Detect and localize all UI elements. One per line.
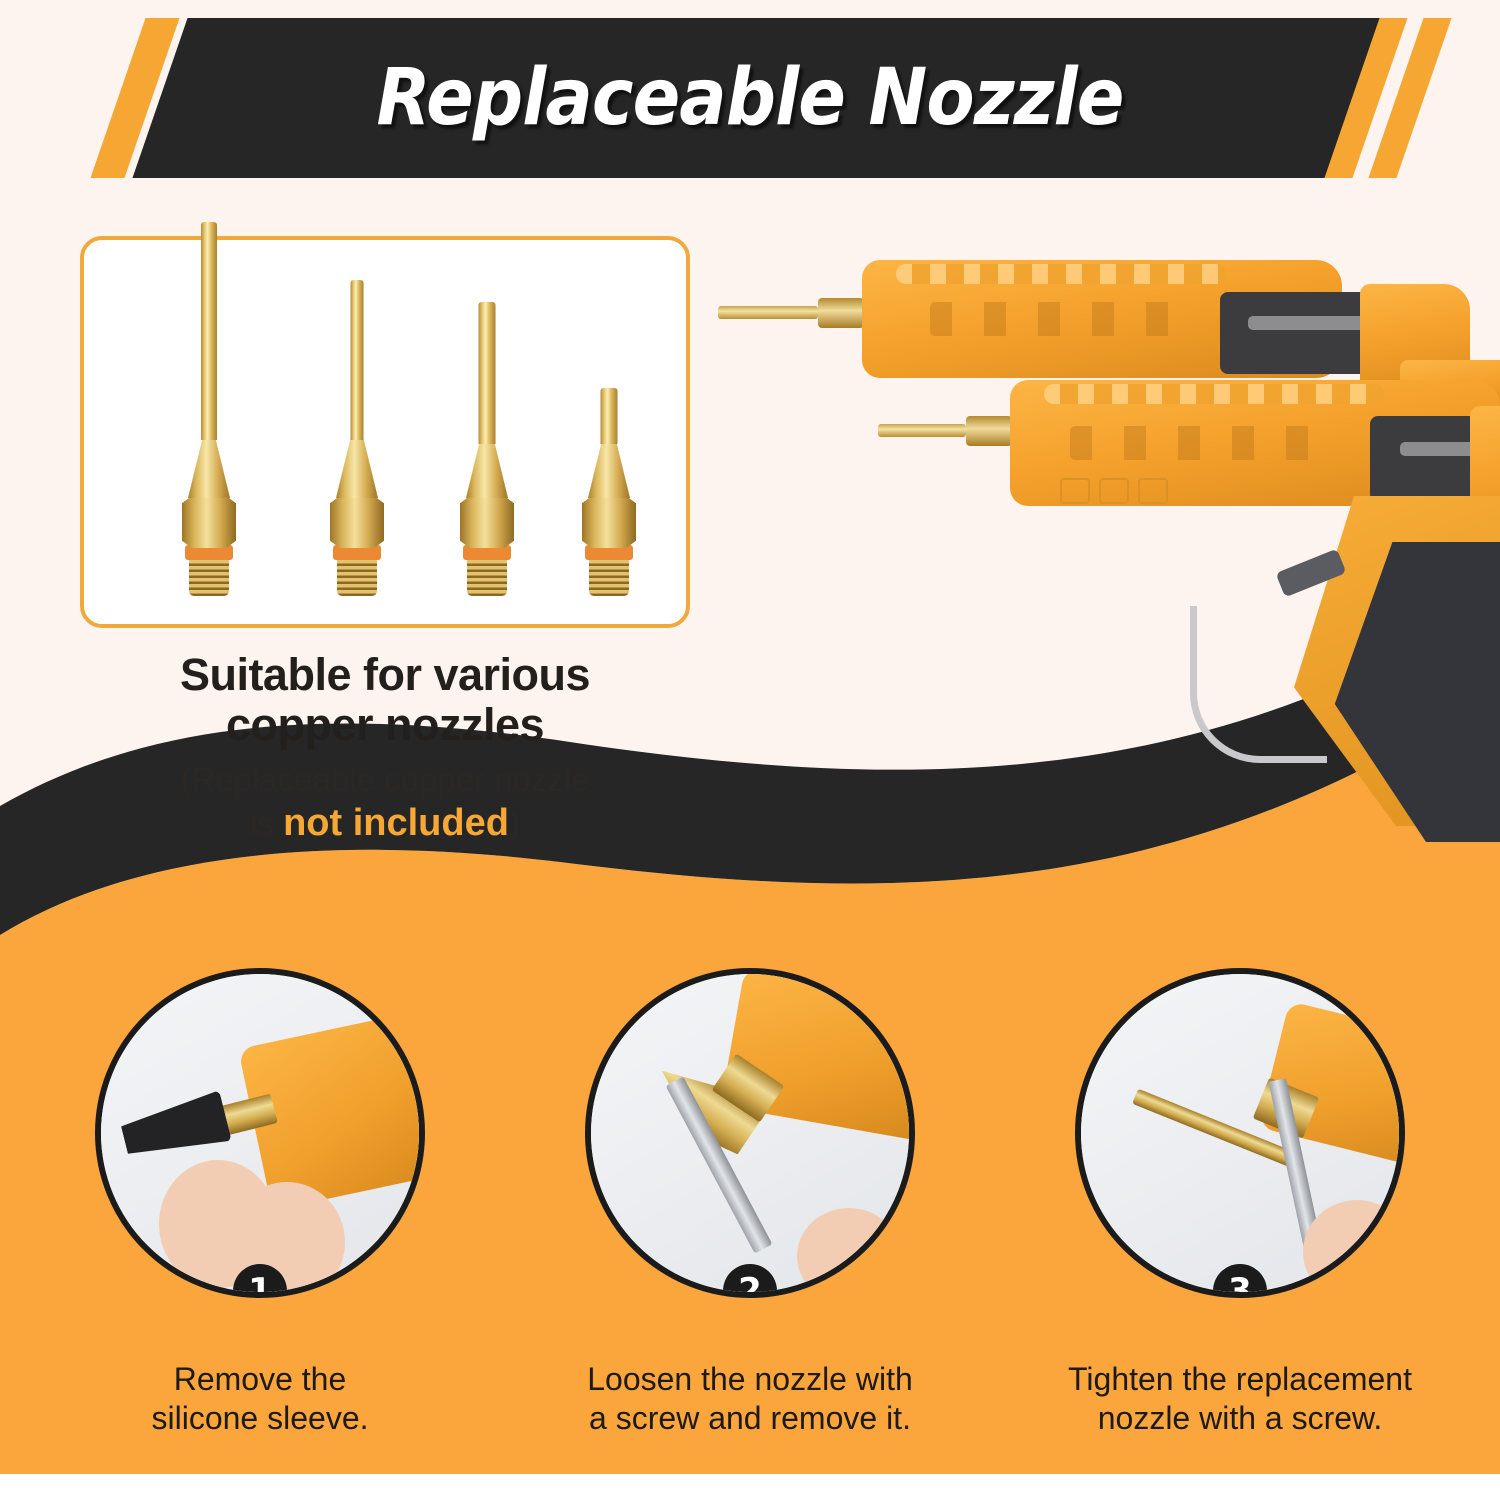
step-2-caption: Loosen the nozzle with a screw and remov… <box>550 1360 950 1438</box>
nozzle-hexnut-icon <box>330 496 384 548</box>
nozzle-hexnut-icon <box>182 496 236 548</box>
header-banner: Replaceable Nozzle <box>0 18 1500 178</box>
nozzle-thread-icon <box>337 556 377 596</box>
nozzle-needle-icon <box>601 388 618 444</box>
rear-gun-dents <box>930 302 1180 336</box>
step-2-caption-line1: Loosen the nozzle with <box>550 1360 950 1399</box>
nozzle-cone-icon <box>466 436 508 498</box>
rear-gun-slot <box>1248 316 1378 330</box>
nozzle-needle-icon <box>201 222 217 440</box>
step-1-photo: 1 <box>95 968 425 1298</box>
front-gun-ribs <box>1044 384 1384 404</box>
front-gun-nozzle-base-icon <box>966 416 1012 446</box>
nozzle-medium <box>432 266 542 596</box>
front-gun-button-2[interactable] <box>1099 478 1129 504</box>
rear-gun-nozzle-base-icon <box>818 298 864 328</box>
note-suffix: ) <box>509 805 520 842</box>
note-line2: is not included) <box>60 800 710 846</box>
nozzle-thread-icon <box>189 556 229 596</box>
step-1-caption-line2: silicone sleeve. <box>60 1399 460 1438</box>
nozzle-cone-icon <box>336 436 378 498</box>
glue-gun-front: MAXDONE <box>770 346 1500 926</box>
step-2: 2 Loosen the nozzle with a screw and rem… <box>550 968 950 1438</box>
nozzle-thread-icon <box>589 556 629 596</box>
power-cord <box>1190 606 1327 763</box>
nozzle-extra-long <box>154 266 264 596</box>
rear-gun-ribs <box>896 264 1226 284</box>
step-2-finger <box>797 1208 901 1298</box>
step-3-finger <box>1303 1200 1405 1298</box>
rear-gun-nozzle-needle-icon <box>718 306 818 319</box>
front-gun-nozzle-needle-icon <box>878 424 966 437</box>
front-gun-button-3[interactable] <box>1138 478 1168 504</box>
product-infographic: Replaceable Nozzle <box>0 0 1500 1500</box>
nozzle-hexnut-icon <box>582 496 636 548</box>
nozzle-cone-icon <box>588 436 630 498</box>
nozzle-hexnut-icon <box>460 496 514 548</box>
nozzle-sample-box <box>80 236 690 628</box>
step-1: 1 Remove the silicone sleeve. <box>60 968 460 1438</box>
step-3-caption-line2: nozzle with a screw. <box>1040 1399 1440 1438</box>
page-title: Replaceable Nozzle <box>75 18 1425 178</box>
not-included-note: (Replaceable copper nozzle is not includ… <box>60 760 710 847</box>
step-1-caption-line1: Remove the <box>60 1360 460 1399</box>
front-gun-buttons[interactable] <box>1060 478 1168 504</box>
step-2-caption-line2: a screw and remove it. <box>550 1399 950 1438</box>
front-gun-dents <box>1070 426 1320 460</box>
nozzle-short <box>554 266 664 596</box>
step-2-photo: 2 <box>585 968 915 1298</box>
nozzle-thread-icon <box>467 556 507 596</box>
step-3-caption: Tighten the replacement nozzle with a sc… <box>1040 1360 1440 1438</box>
step-3: 3 Tighten the replacement nozzle with a … <box>1040 968 1440 1438</box>
note-is: is <box>250 805 274 842</box>
nozzle-cone-icon <box>188 436 230 498</box>
step-3-photo: 3 <box>1075 968 1405 1298</box>
note-highlight: not included <box>283 802 509 844</box>
suitable-heading-line2: copper nozzles <box>60 700 710 750</box>
step-1-caption: Remove the silicone sleeve. <box>60 1360 460 1438</box>
nozzle-needle-icon <box>479 302 496 444</box>
nozzle-needle-icon <box>351 280 364 440</box>
step-3-caption-line1: Tighten the replacement <box>1040 1360 1440 1399</box>
nozzle-long <box>302 266 412 596</box>
front-gun-button-1[interactable] <box>1060 478 1090 504</box>
bottom-white-margin <box>0 1474 1500 1500</box>
suitable-heading-line1: Suitable for various <box>60 650 710 700</box>
suitable-heading: Suitable for various copper nozzles <box>60 650 710 751</box>
glue-gun-group: MAXDONE <box>700 250 1500 930</box>
note-line1: (Replaceable copper nozzle <box>60 760 710 800</box>
nozzle-row <box>84 256 686 596</box>
